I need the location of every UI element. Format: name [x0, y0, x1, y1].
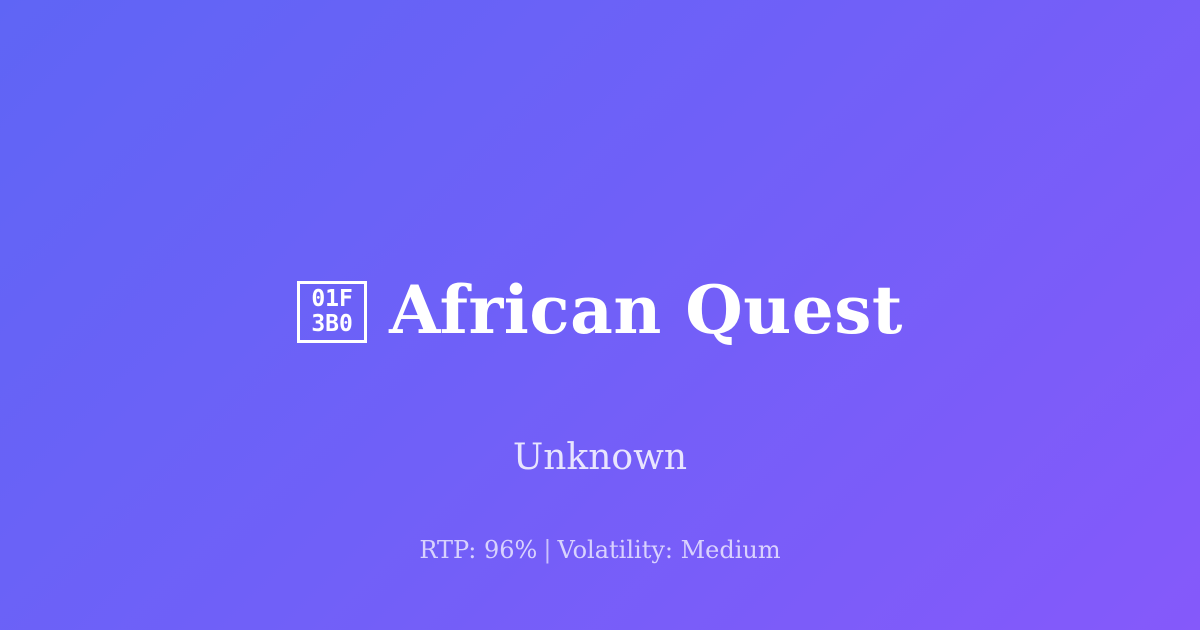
rtp-stat: RTP: 96%: [419, 536, 537, 564]
game-title: African Quest: [389, 276, 903, 345]
volatility-stat: Volatility: Medium: [557, 536, 780, 564]
title-row: 01F 3B0 African Quest: [297, 232, 903, 390]
slot-machine-icon-codepoint-bottom: 3B0: [311, 312, 353, 337]
slot-machine-icon: 01F 3B0: [297, 281, 367, 343]
game-promo-card: 01F 3B0 African Quest Unknown RTP: 96%|V…: [0, 0, 1200, 630]
game-provider: Unknown: [513, 436, 687, 479]
slot-machine-icon-codepoint-top: 01F: [311, 287, 353, 312]
stats-separator: |: [537, 536, 557, 564]
game-stats-footer: RTP: 96%|Volatility: Medium: [0, 536, 1200, 565]
